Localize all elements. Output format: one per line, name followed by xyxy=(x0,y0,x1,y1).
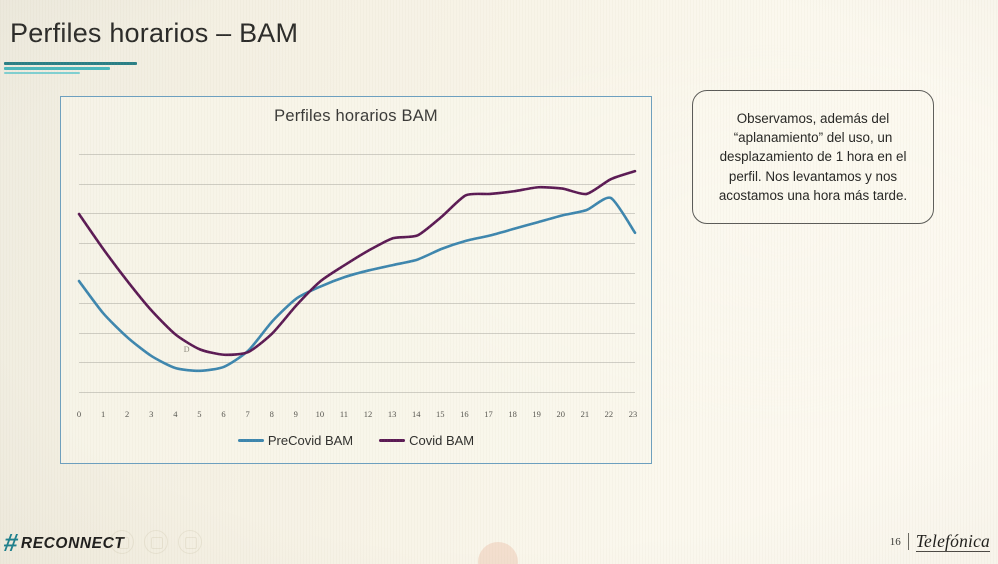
page-number: 16 xyxy=(890,536,901,548)
chart-legend: PreCovid BAMCovid BAM xyxy=(61,433,651,448)
chart-marker-note: D xyxy=(184,345,190,354)
x-tick-label: 18 xyxy=(508,409,517,419)
x-tick-label: 17 xyxy=(484,409,493,419)
x-tick-label: 20 xyxy=(556,409,565,419)
chart-lines xyxy=(79,139,635,407)
legend-swatch xyxy=(238,439,264,442)
x-tick-label: 4 xyxy=(173,409,177,419)
ghost-icon-1 xyxy=(110,530,134,554)
reconnect-logo: # RECONNECT xyxy=(4,531,124,556)
x-tick-label: 22 xyxy=(605,409,614,419)
x-tick-label: 6 xyxy=(221,409,225,419)
x-tick-label: 21 xyxy=(581,409,590,419)
series-line-precovid-bam xyxy=(79,198,635,371)
ghost-circle-artifact xyxy=(478,542,518,564)
page-title: Perfiles horarios – BAM xyxy=(10,18,298,49)
title-underline-decoration xyxy=(4,62,174,80)
callout-box: Observamos, además del “aplanamiento” de… xyxy=(692,90,934,224)
telefonica-logo: Telefónica xyxy=(916,532,990,552)
x-tick-label: 23 xyxy=(629,409,638,419)
title-rule-light xyxy=(4,72,80,74)
legend-label: PreCovid BAM xyxy=(268,433,353,448)
x-tick-label: 12 xyxy=(364,409,373,419)
title-rule-dark xyxy=(4,62,137,65)
x-tick-label: 1 xyxy=(101,409,105,419)
x-tick-label: 0 xyxy=(77,409,81,419)
x-tick-label: 8 xyxy=(270,409,274,419)
pager-divider xyxy=(908,533,909,550)
x-tick-label: 10 xyxy=(316,409,325,419)
legend-label: Covid BAM xyxy=(409,433,474,448)
x-tick-label: 7 xyxy=(245,409,249,419)
legend-swatch xyxy=(379,439,405,442)
x-tick-label: 16 xyxy=(460,409,469,419)
callout-text: Observamos, además del “aplanamiento” de… xyxy=(707,109,919,205)
legend-item-precovid-bam[interactable]: PreCovid BAM xyxy=(238,433,353,448)
chart-x-axis-labels: 01234567891011121314151617181920212223 xyxy=(79,409,633,425)
x-tick-label: 9 xyxy=(294,409,298,419)
reconnect-wordmark: RECONNECT xyxy=(21,535,125,553)
series-line-covid-bam xyxy=(79,171,635,355)
x-tick-label: 14 xyxy=(412,409,421,419)
chart-container: Perfiles horarios BAM D 0123456789101112… xyxy=(60,96,652,464)
ghost-icon-2 xyxy=(144,530,168,554)
x-tick-label: 3 xyxy=(149,409,153,419)
x-tick-label: 15 xyxy=(436,409,445,419)
legend-item-covid-bam[interactable]: Covid BAM xyxy=(379,433,474,448)
ghost-icon-3 xyxy=(178,530,202,554)
x-tick-label: 5 xyxy=(197,409,201,419)
title-rule-mid xyxy=(4,67,110,70)
hash-icon: # xyxy=(2,531,20,556)
slide-footer-pager: 16 Telefónica xyxy=(890,532,990,552)
x-tick-label: 19 xyxy=(532,409,541,419)
chart-title: Perfiles horarios BAM xyxy=(61,107,651,126)
x-tick-label: 11 xyxy=(340,409,348,419)
x-tick-label: 2 xyxy=(125,409,129,419)
x-tick-label: 13 xyxy=(388,409,397,419)
chart-plot-area: D xyxy=(79,139,635,407)
faint-background-icons xyxy=(110,530,202,554)
